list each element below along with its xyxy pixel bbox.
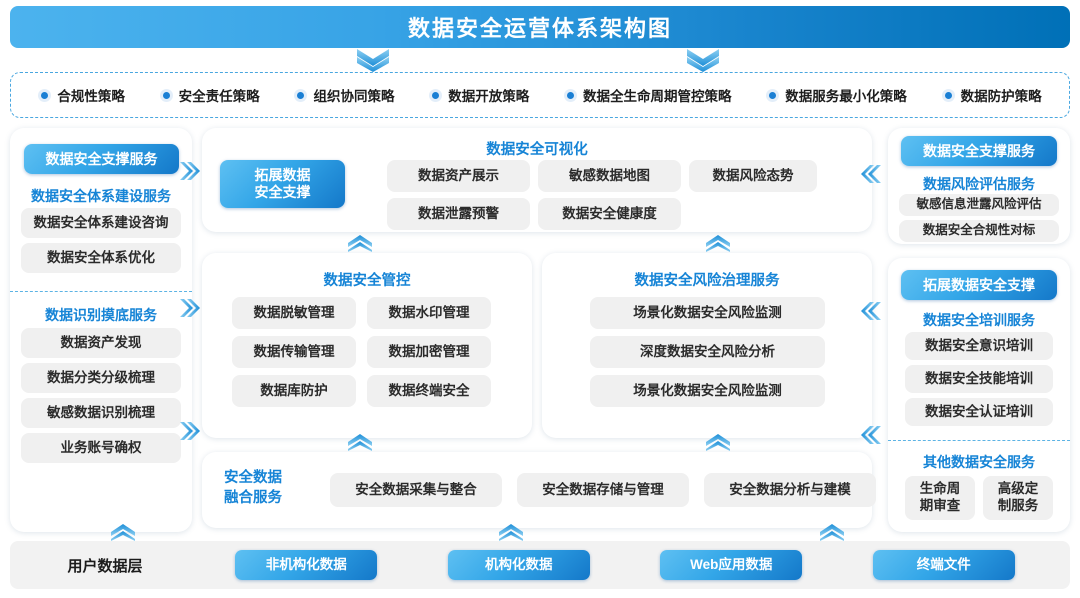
bullet-icon bbox=[38, 89, 51, 102]
chevron-right-icon bbox=[178, 297, 200, 319]
left-item-account-rights[interactable]: 业务账号确权 bbox=[21, 433, 181, 463]
policy-item[interactable]: 合规性策略 bbox=[38, 85, 125, 105]
visualization-panel: 数据安全可视化 拓展数据 安全支撑 数据资产展示 敏感数据地图 数据风险态势 数… bbox=[202, 128, 872, 232]
viz-item-leak-alert[interactable]: 数据泄露预警 bbox=[387, 198, 530, 230]
fusion-panel: 安全数据 融合服务 安全数据采集与整合 安全数据存储与管理 安全数据分析与建模 bbox=[202, 452, 872, 528]
viz-item-risk-posture[interactable]: 数据风险态势 bbox=[689, 160, 817, 192]
chevron-right-icon bbox=[178, 160, 200, 182]
chevron-up-icon bbox=[348, 434, 372, 451]
policy-item[interactable]: 数据全生命周期管控策略 bbox=[564, 85, 732, 105]
right-item-advanced-custom[interactable]: 高级定 制服务 bbox=[983, 476, 1053, 520]
right-bottom-panel: 拓展数据安全支撑 数据安全培训服务 数据安全意识培训 数据安全技能培训 数据安全… bbox=[888, 258, 1070, 532]
chevron-right-icon bbox=[178, 420, 200, 442]
pill-line-2: 安全支撑 bbox=[255, 184, 311, 201]
policy-item[interactable]: 安全责任策略 bbox=[160, 85, 260, 105]
fusion-item-analysis[interactable]: 安全数据分析与建模 bbox=[704, 473, 876, 507]
policy-item[interactable]: 数据防护策略 bbox=[942, 85, 1042, 105]
right-item-leak-risk-assessment[interactable]: 敏感信息泄露风险评估 bbox=[899, 194, 1059, 216]
right-item-certification-training[interactable]: 数据安全认证培训 bbox=[905, 398, 1053, 426]
policy-label: 安全责任策略 bbox=[179, 85, 260, 105]
left-group-heading-1: 数据安全体系建设服务 bbox=[10, 186, 192, 206]
chevron-up-icon bbox=[706, 235, 730, 252]
policy-item[interactable]: 组织协同策略 bbox=[294, 85, 394, 105]
policy-strip: 合规性策略 安全责任策略 组织协同策略 数据开放策略 数据全生命周期管控策略 数… bbox=[10, 72, 1070, 118]
page-title: 数据安全运营体系架构图 bbox=[408, 11, 672, 43]
chip-line-2: 制服务 bbox=[998, 498, 1039, 515]
user-data-layer-bar: 用户数据层 非机构化数据 机构化数据 Web应用数据 终端文件 bbox=[10, 541, 1070, 589]
chevron-down-icon bbox=[686, 48, 720, 72]
data-type-endpoint-file[interactable]: 终端文件 bbox=[873, 550, 1015, 580]
bullet-icon bbox=[429, 89, 442, 102]
fusion-label-line-1: 安全数据 bbox=[224, 469, 316, 489]
left-item-construction-consult[interactable]: 数据安全体系建设咨询 bbox=[21, 208, 181, 238]
chevron-up-icon bbox=[499, 524, 523, 541]
bullet-icon bbox=[564, 89, 577, 102]
control-item-encryption[interactable]: 数据加密管理 bbox=[367, 336, 491, 368]
fusion-item-collect[interactable]: 安全数据采集与整合 bbox=[330, 473, 502, 507]
left-item-asset-discovery[interactable]: 数据资产发现 bbox=[21, 328, 181, 358]
right-top-panel: 数据安全支撑服务 数据风险评估服务 敏感信息泄露风险评估 数据安全合规性对标 bbox=[888, 128, 1070, 244]
policy-label: 数据全生命周期管控策略 bbox=[583, 85, 732, 105]
risk-item-scenario-monitor-1[interactable]: 场景化数据安全风险监测 bbox=[590, 297, 825, 329]
page-title-bar: 数据安全运营体系架构图 bbox=[10, 6, 1070, 48]
policy-item[interactable]: 数据开放策略 bbox=[429, 85, 529, 105]
bullet-icon bbox=[160, 89, 173, 102]
data-type-structured[interactable]: 机构化数据 bbox=[448, 550, 590, 580]
pill-line-1: 拓展数据 bbox=[255, 167, 311, 184]
policy-label: 数据防护策略 bbox=[961, 85, 1042, 105]
left-group-heading-2: 数据识别摸底服务 bbox=[10, 305, 192, 325]
right-risk-assessment-heading: 数据风险评估服务 bbox=[888, 174, 1070, 194]
viz-item-asset-display[interactable]: 数据资产展示 bbox=[387, 160, 530, 192]
left-column-panel: 数据安全支撑服务 数据安全体系建设服务 数据安全体系建设咨询 数据安全体系优化 … bbox=[10, 128, 192, 532]
left-item-classification[interactable]: 数据分类分级梳理 bbox=[21, 363, 181, 393]
policy-label: 组织协同策略 bbox=[313, 85, 394, 105]
chip-line-1: 高级定 bbox=[998, 481, 1039, 498]
chip-line-1: 生命周 bbox=[920, 481, 961, 498]
control-title: 数据安全管控 bbox=[202, 269, 532, 290]
viz-item-sensitive-map[interactable]: 敏感数据地图 bbox=[538, 160, 681, 192]
control-item-watermark[interactable]: 数据水印管理 bbox=[367, 297, 491, 329]
policy-label: 数据服务最小化策略 bbox=[785, 85, 907, 105]
fusion-label-line-2: 融合服务 bbox=[224, 489, 316, 509]
data-type-unstructured[interactable]: 非机构化数据 bbox=[235, 550, 377, 580]
viz-item-health[interactable]: 数据安全健康度 bbox=[538, 198, 681, 230]
right-item-lifecycle-review[interactable]: 生命周 期审查 bbox=[905, 476, 975, 520]
user-data-layer-label: 用户数据层 bbox=[10, 555, 200, 576]
chevron-left-icon bbox=[861, 300, 883, 322]
left-item-sensitive-identify[interactable]: 敏感数据识别梳理 bbox=[21, 398, 181, 428]
control-item-endpoint[interactable]: 数据终端安全 bbox=[367, 375, 491, 407]
risk-governance-title: 数据安全风险治理服务 bbox=[542, 269, 872, 290]
user-data-layer-items: 非机构化数据 机构化数据 Web应用数据 终端文件 bbox=[200, 550, 1070, 580]
fusion-service-label: 安全数据 融合服务 bbox=[224, 469, 316, 508]
chevron-left-icon bbox=[861, 163, 883, 185]
bullet-icon bbox=[294, 89, 307, 102]
control-item-db-protection[interactable]: 数据库防护 bbox=[232, 375, 356, 407]
data-type-web-app[interactable]: Web应用数据 bbox=[660, 550, 802, 580]
bullet-icon bbox=[942, 89, 955, 102]
right-training-heading: 数据安全培训服务 bbox=[888, 310, 1070, 330]
policy-label: 数据开放策略 bbox=[448, 85, 529, 105]
chevron-up-icon bbox=[706, 434, 730, 451]
visualization-title: 数据安全可视化 bbox=[202, 138, 872, 159]
right-item-compliance-benchmark[interactable]: 数据安全合规性对标 bbox=[899, 220, 1059, 242]
control-panel: 数据安全管控 数据脱敏管理 数据水印管理 数据传输管理 数据加密管理 数据库防护… bbox=[202, 253, 532, 438]
chip-line-2: 期审查 bbox=[920, 498, 961, 515]
risk-item-deep-analysis[interactable]: 深度数据安全风险分析 bbox=[590, 336, 825, 368]
chevron-up-icon bbox=[820, 524, 844, 541]
control-item-transmission[interactable]: 数据传输管理 bbox=[232, 336, 356, 368]
divider bbox=[888, 440, 1070, 441]
risk-governance-panel: 数据安全风险治理服务 场景化数据安全风险监测 深度数据安全风险分析 场景化数据安… bbox=[542, 253, 872, 438]
right-other-services-heading: 其他数据安全服务 bbox=[888, 452, 1070, 472]
divider bbox=[10, 291, 192, 292]
chevron-left-icon bbox=[861, 424, 883, 446]
right-item-skill-training[interactable]: 数据安全技能培训 bbox=[905, 365, 1053, 393]
fusion-item-storage[interactable]: 安全数据存储与管理 bbox=[517, 473, 689, 507]
right-item-awareness-training[interactable]: 数据安全意识培训 bbox=[905, 332, 1053, 360]
chevron-up-icon bbox=[111, 524, 135, 541]
control-item-desensitization[interactable]: 数据脱敏管理 bbox=[232, 297, 356, 329]
right-expand-support-pill[interactable]: 拓展数据安全支撑 bbox=[901, 270, 1057, 300]
right-support-service-pill[interactable]: 数据安全支撑服务 bbox=[901, 136, 1057, 166]
left-support-service-pill[interactable]: 数据安全支撑服务 bbox=[24, 144, 179, 174]
policy-item[interactable]: 数据服务最小化策略 bbox=[766, 85, 907, 105]
expand-data-security-support-pill[interactable]: 拓展数据 安全支撑 bbox=[220, 160, 345, 208]
bullet-icon bbox=[766, 89, 779, 102]
risk-item-scenario-monitor-2[interactable]: 场景化数据安全风险监测 bbox=[590, 375, 825, 407]
chevron-up-icon bbox=[348, 235, 372, 252]
chevron-down-icon bbox=[356, 48, 390, 72]
policy-label: 合规性策略 bbox=[57, 85, 125, 105]
left-item-system-optimize[interactable]: 数据安全体系优化 bbox=[21, 243, 181, 273]
